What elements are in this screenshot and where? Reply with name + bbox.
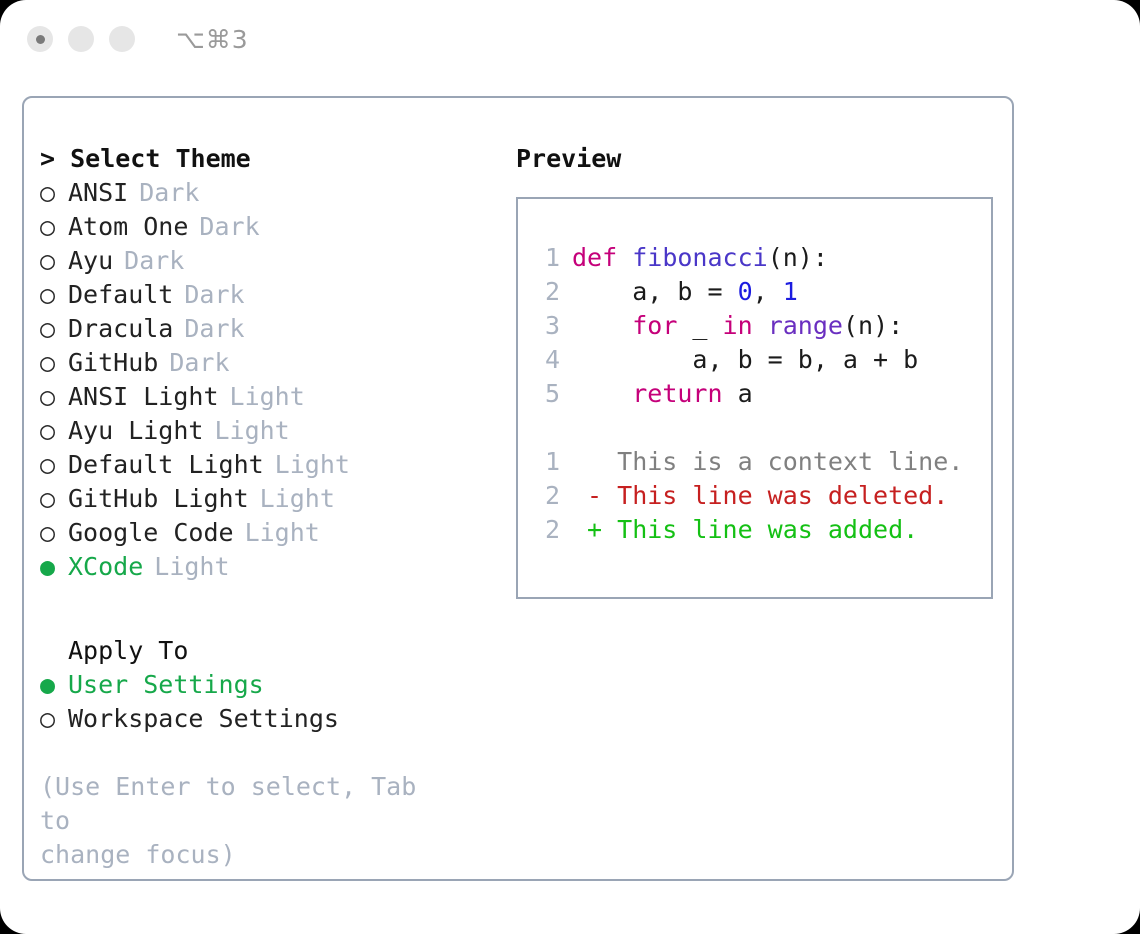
- code-line-text: a, b = b, a + b: [572, 343, 918, 377]
- theme-option-ayu[interactable]: ○AyuDark: [40, 244, 494, 278]
- radio-unselected-icon: ○: [40, 516, 68, 550]
- token-del: - This line was deleted.: [572, 481, 948, 510]
- apply-to-heading: Apply To: [40, 634, 494, 668]
- apply-option-label: Workspace Settings: [68, 702, 339, 736]
- radio-unselected-icon: ○: [40, 312, 68, 346]
- token-fn: fibonacci: [632, 243, 767, 272]
- traffic-light-1-dot: [36, 35, 45, 44]
- token-pl: a: [723, 379, 753, 408]
- radio-unselected-icon: ○: [40, 380, 68, 414]
- preview-column: Preview 1def fibonacci(n):2 a, b = 0, 13…: [494, 98, 1012, 879]
- theme-option-label: Ayu Light: [68, 414, 203, 448]
- line-number: 2: [532, 479, 560, 513]
- preview-code-box: 1def fibonacci(n):2 a, b = 0, 13 for _ i…: [516, 197, 993, 599]
- theme-option-tag: Dark: [184, 312, 244, 346]
- radio-unselected-icon: ○: [40, 244, 68, 278]
- radio-unselected-icon: ○: [40, 346, 68, 380]
- code-diff-separator: [532, 411, 991, 445]
- theme-option-label: Default: [68, 278, 173, 312]
- token-pl: [753, 311, 768, 340]
- theme-option-atom-one[interactable]: ○Atom OneDark: [40, 210, 494, 244]
- theme-option-tag: Light: [245, 516, 320, 550]
- theme-option-default-light[interactable]: ○Default LightLight: [40, 448, 494, 482]
- code-line-text: - This line was deleted.: [572, 479, 948, 513]
- line-number: 4: [532, 343, 560, 377]
- app-window: ⌥⌘3 > Select Theme ○ANSIDark○Atom OneDar…: [0, 0, 1140, 934]
- token-pl: (n):: [843, 311, 903, 340]
- code-line-text: a, b = 0, 1: [572, 275, 798, 309]
- code-line-text: for _ in range(n):: [572, 309, 903, 343]
- theme-option-label: ANSI Light: [68, 380, 219, 414]
- apply-option-workspace-settings[interactable]: ○Workspace Settings: [40, 702, 494, 736]
- theme-option-ansi[interactable]: ○ANSIDark: [40, 176, 494, 210]
- theme-option-tag: Light: [154, 550, 229, 584]
- theme-option-label: Default Light: [68, 448, 264, 482]
- theme-option-label: Ayu: [68, 244, 113, 278]
- theme-option-xcode[interactable]: ●XCodeLight: [40, 550, 494, 584]
- apply-option-label: User Settings: [68, 668, 264, 702]
- theme-option-label: ANSI: [68, 176, 128, 210]
- radio-selected-icon: ●: [40, 550, 68, 584]
- theme-option-tag: Dark: [184, 278, 244, 312]
- code-sample: 1def fibonacci(n):2 a, b = 0, 13 for _ i…: [532, 241, 991, 411]
- token-pl: _: [677, 311, 722, 340]
- line-number: 5: [532, 377, 560, 411]
- traffic-light-3[interactable]: [109, 26, 135, 52]
- theme-option-ayu-light[interactable]: ○Ayu LightLight: [40, 414, 494, 448]
- token-pl: ,: [753, 277, 783, 306]
- theme-option-tag: Dark: [169, 346, 229, 380]
- line-number: 2: [532, 275, 560, 309]
- theme-option-label: XCode: [68, 550, 143, 584]
- token-pl: a, b =: [572, 277, 738, 306]
- radio-unselected-icon: ○: [40, 210, 68, 244]
- line-number: 3: [532, 309, 560, 343]
- hint-spacer: [40, 736, 494, 770]
- token-pl: [572, 311, 632, 340]
- line-number: 2: [532, 513, 560, 547]
- code-line: 3 for _ in range(n):: [532, 309, 991, 343]
- code-line: 2 a, b = 0, 1: [532, 275, 991, 309]
- diff-line: 1 This is a context line.: [532, 445, 991, 479]
- token-pl: (n):: [768, 243, 828, 272]
- theme-option-github[interactable]: ○GitHubDark: [40, 346, 494, 380]
- radio-unselected-icon: ○: [40, 448, 68, 482]
- main-panel: > Select Theme ○ANSIDark○Atom OneDark○Ay…: [22, 96, 1014, 881]
- theme-option-google-code[interactable]: ○Google CodeLight: [40, 516, 494, 550]
- radio-selected-icon: ●: [40, 668, 68, 702]
- keyboard-hint-text: (Use Enter to select, Tab to change focu…: [40, 770, 450, 872]
- select-theme-heading: > Select Theme: [40, 142, 494, 176]
- code-line: 5 return a: [532, 377, 991, 411]
- theme-option-default[interactable]: ○DefaultDark: [40, 278, 494, 312]
- theme-option-label: Google Code: [68, 516, 234, 550]
- token-num: 1: [783, 277, 798, 306]
- keyboard-shortcut-label: ⌥⌘3: [176, 25, 249, 54]
- apply-option-user-settings[interactable]: ●User Settings: [40, 668, 494, 702]
- theme-option-label: GitHub: [68, 346, 158, 380]
- token-pl: [572, 379, 632, 408]
- theme-option-label: Dracula: [68, 312, 173, 346]
- diff-line: 2 + This line was added.: [532, 513, 991, 547]
- token-num: 0: [738, 277, 753, 306]
- radio-unselected-icon: ○: [40, 278, 68, 312]
- token-kw: for: [632, 311, 677, 340]
- code-line-text: def fibonacci(n):: [572, 241, 828, 275]
- radio-unselected-icon: ○: [40, 176, 68, 210]
- apply-to-list[interactable]: ●User Settings○Workspace Settings: [40, 668, 494, 736]
- section-spacer: [40, 584, 494, 634]
- code-line: 1def fibonacci(n):: [532, 241, 991, 275]
- theme-list[interactable]: ○ANSIDark○Atom OneDark○AyuDark○DefaultDa…: [40, 176, 494, 584]
- line-number: 1: [532, 445, 560, 479]
- token-kw: return: [632, 379, 722, 408]
- theme-option-tag: Dark: [139, 176, 199, 210]
- code-line-text: return a: [572, 377, 753, 411]
- token-pl: a, b = b, a + b: [572, 345, 918, 374]
- diff-line: 2 - This line was deleted.: [532, 479, 991, 513]
- token-kw: def: [572, 243, 632, 272]
- radio-unselected-icon: ○: [40, 702, 68, 736]
- radio-unselected-icon: ○: [40, 482, 68, 516]
- preview-title: Preview: [516, 142, 1012, 176]
- theme-selector-column: > Select Theme ○ANSIDark○Atom OneDark○Ay…: [24, 98, 494, 879]
- theme-option-tag: Dark: [199, 210, 259, 244]
- theme-option-tag: Light: [214, 414, 289, 448]
- radio-unselected-icon: ○: [40, 414, 68, 448]
- theme-option-dracula[interactable]: ○DraculaDark: [40, 312, 494, 346]
- traffic-light-1[interactable]: [27, 26, 53, 52]
- theme-option-tag: Light: [230, 380, 305, 414]
- theme-option-ansi-light[interactable]: ○ANSI LightLight: [40, 380, 494, 414]
- theme-option-label: Atom One: [68, 210, 188, 244]
- theme-option-tag: Dark: [124, 244, 184, 278]
- token-kw: in: [723, 311, 753, 340]
- theme-option-label: GitHub Light: [68, 482, 249, 516]
- window-titlebar: ⌥⌘3: [0, 0, 1140, 78]
- token-add: + This line was added.: [572, 515, 918, 544]
- code-line-text: + This line was added.: [572, 513, 918, 547]
- code-line-text: This is a context line.: [572, 445, 963, 479]
- token-ctx: This is a context line.: [572, 447, 963, 476]
- theme-option-tag: Light: [260, 482, 335, 516]
- theme-option-tag: Light: [275, 448, 350, 482]
- token-fn2: range: [768, 311, 843, 340]
- theme-option-github-light[interactable]: ○GitHub LightLight: [40, 482, 494, 516]
- line-number: 1: [532, 241, 560, 275]
- traffic-light-2[interactable]: [68, 26, 94, 52]
- diff-sample: 1 This is a context line.2 - This line w…: [532, 445, 991, 547]
- code-line: 4 a, b = b, a + b: [532, 343, 991, 377]
